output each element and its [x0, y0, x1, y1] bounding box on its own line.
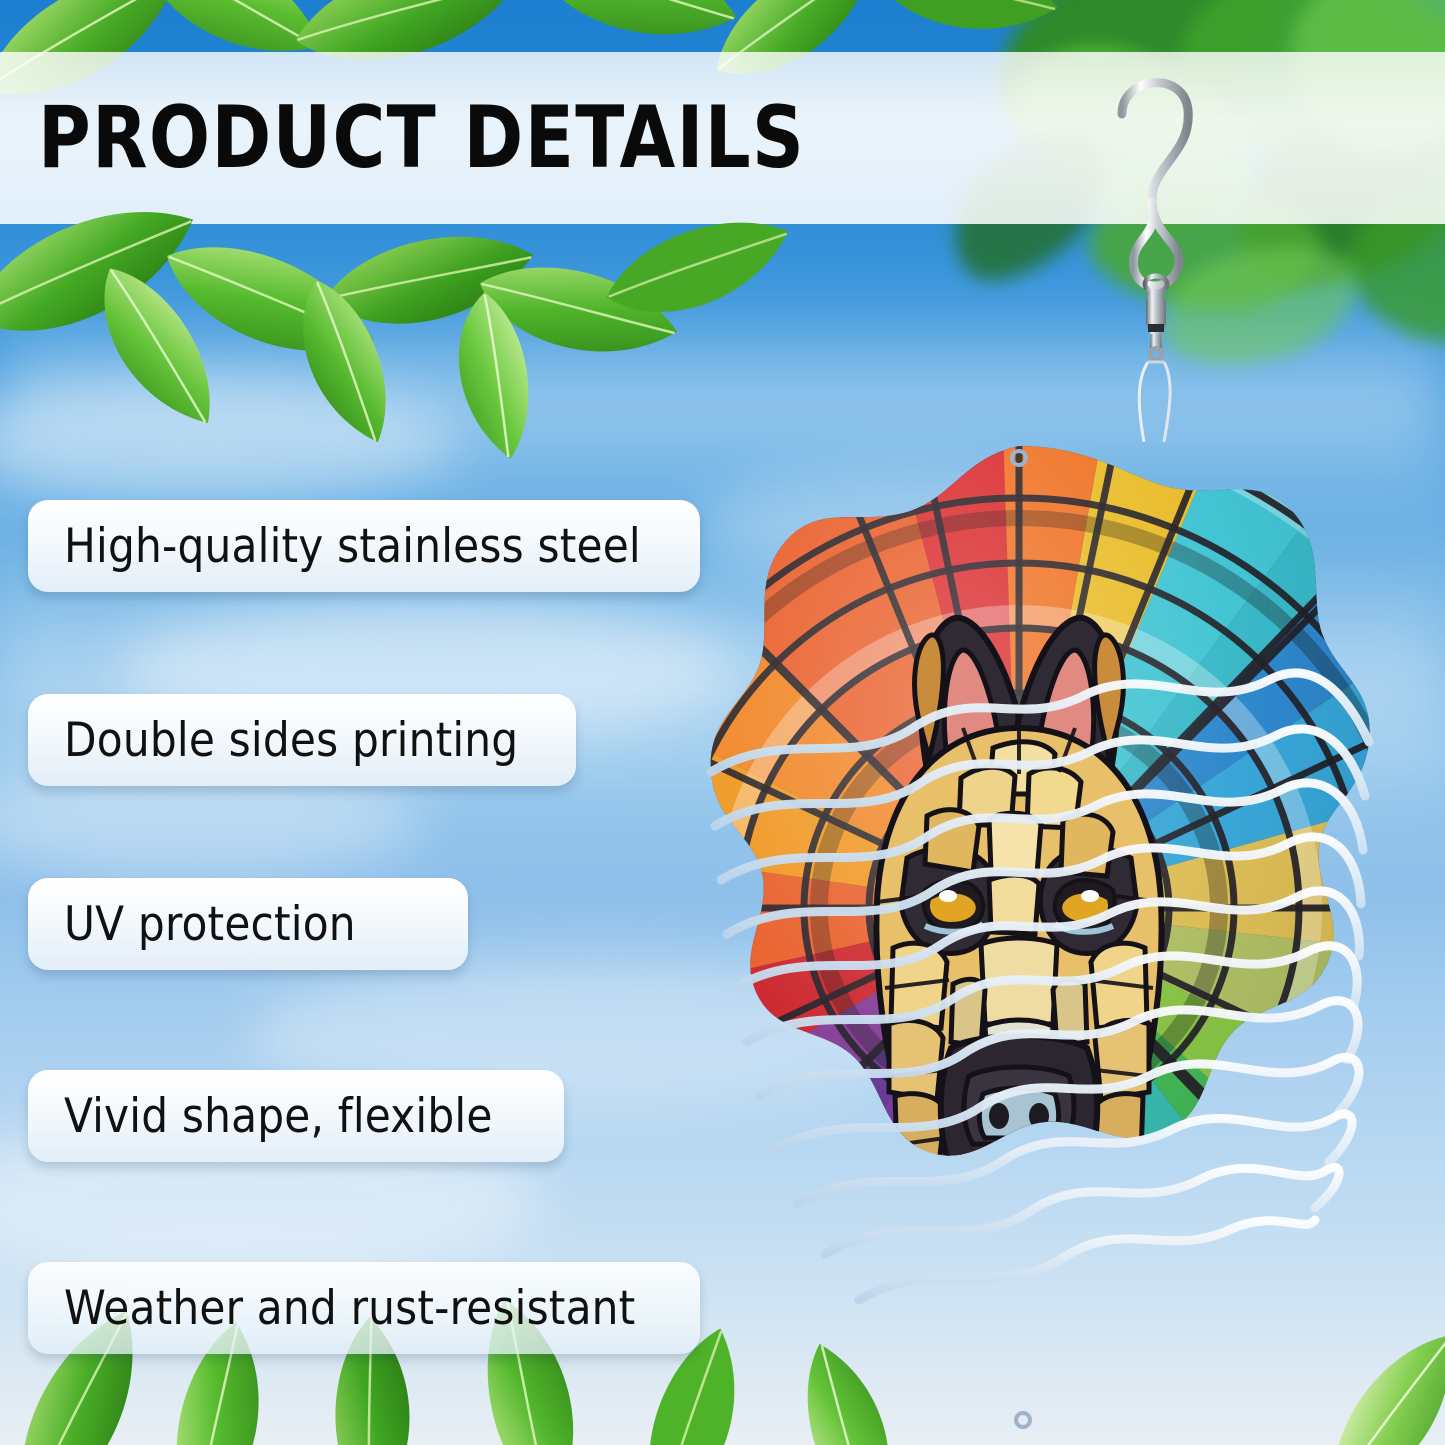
feature-label-0: High-quality stainless steel	[28, 519, 641, 574]
hanger-assembly	[1108, 62, 1228, 442]
feature-label-1: Double sides printing	[28, 713, 518, 768]
wind-spinner-product	[663, 428, 1375, 1438]
leaf-mid-7	[438, 287, 536, 465]
feature-label-2: UV protection	[28, 897, 356, 952]
feature-pill-3: Vivid shape, flexible	[28, 1070, 564, 1162]
product-detail-image: PRODUCT DETAILS	[0, 0, 1445, 1445]
feature-label-4: Weather and rust-resistant	[28, 1281, 635, 1336]
feature-pill-4: Weather and rust-resistant	[28, 1262, 700, 1354]
feature-label-3: Vivid shape, flexible	[28, 1089, 493, 1144]
feature-pill-1: Double sides printing	[28, 694, 576, 786]
feature-pill-0: High-quality stainless steel	[28, 500, 700, 592]
page-title: PRODUCT DETAILS	[38, 95, 805, 181]
feature-pill-2: UV protection	[28, 878, 468, 970]
title-band: PRODUCT DETAILS	[0, 52, 1445, 224]
